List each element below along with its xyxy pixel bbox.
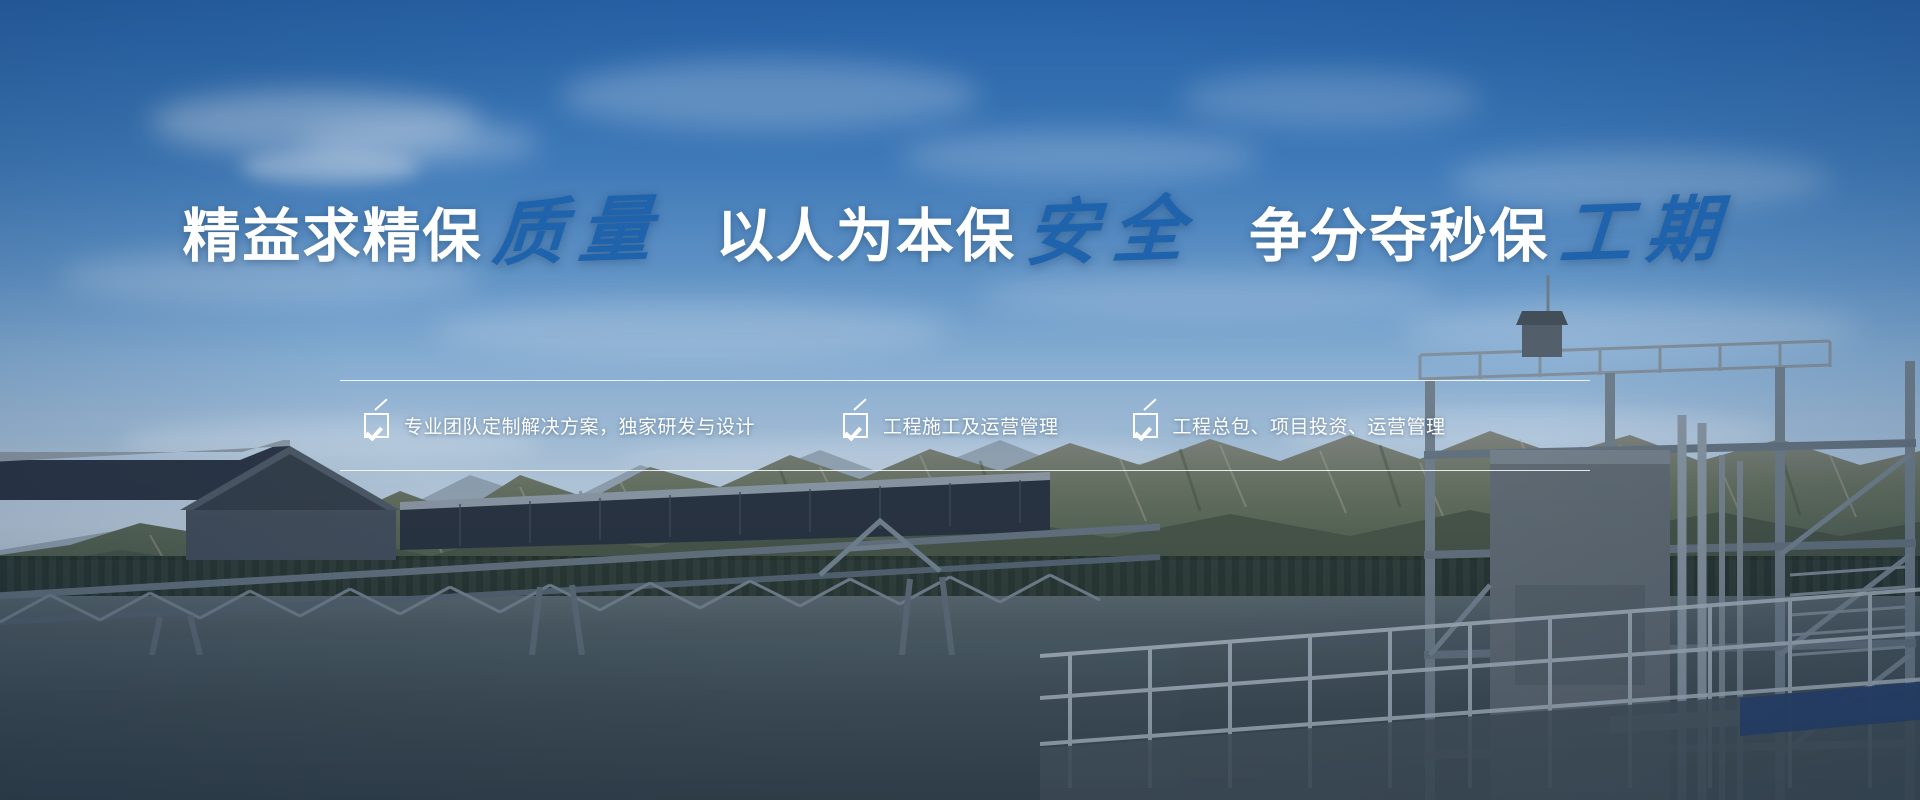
- headline-accent-quality: 质量: [484, 193, 674, 271]
- divider-bottom: [340, 470, 1590, 471]
- headline-segment-2: 以人为本保: [716, 208, 1016, 266]
- hero-content: 精益求精保 质量 以人为本保 安全 争分夺秒保 工期 专业团队定制解决方案，独家…: [0, 0, 1920, 800]
- feature-item-2-label: 工程施工及运营管理: [883, 412, 1059, 439]
- headline-accent-schedule: 工期: [1551, 193, 1741, 271]
- hero-headline: 精益求精保 质量 以人为本保 安全 争分夺秒保 工期: [0, 196, 1920, 268]
- headline-accent-safety: 安全: [1017, 193, 1207, 271]
- headline-segment-1: 精益求精保: [182, 208, 482, 266]
- headline-segment-3: 争分夺秒保: [1249, 208, 1549, 266]
- hero-banner: 精益求精保 质量 以人为本保 安全 争分夺秒保 工期 专业团队定制解决方案，独家…: [0, 0, 1920, 800]
- checkbox-checked-icon: [364, 413, 389, 438]
- feature-item-1-label: 专业团队定制解决方案，独家研发与设计: [404, 412, 755, 439]
- feature-item-3-label: 工程总包、项目投资、运营管理: [1173, 412, 1446, 439]
- checkbox-checked-icon: [1133, 413, 1158, 438]
- feature-item-3[interactable]: 工程总包、项目投资、运营管理: [1133, 412, 1446, 439]
- feature-item-2[interactable]: 工程施工及运营管理: [843, 412, 1059, 439]
- feature-item-1[interactable]: 专业团队定制解决方案，独家研发与设计: [364, 412, 755, 439]
- checkbox-checked-icon: [843, 413, 868, 438]
- divider-top: [340, 380, 1590, 381]
- feature-list: 专业团队定制解决方案，独家研发与设计 工程施工及运营管理 工程总包、项目投资、运…: [340, 396, 1590, 454]
